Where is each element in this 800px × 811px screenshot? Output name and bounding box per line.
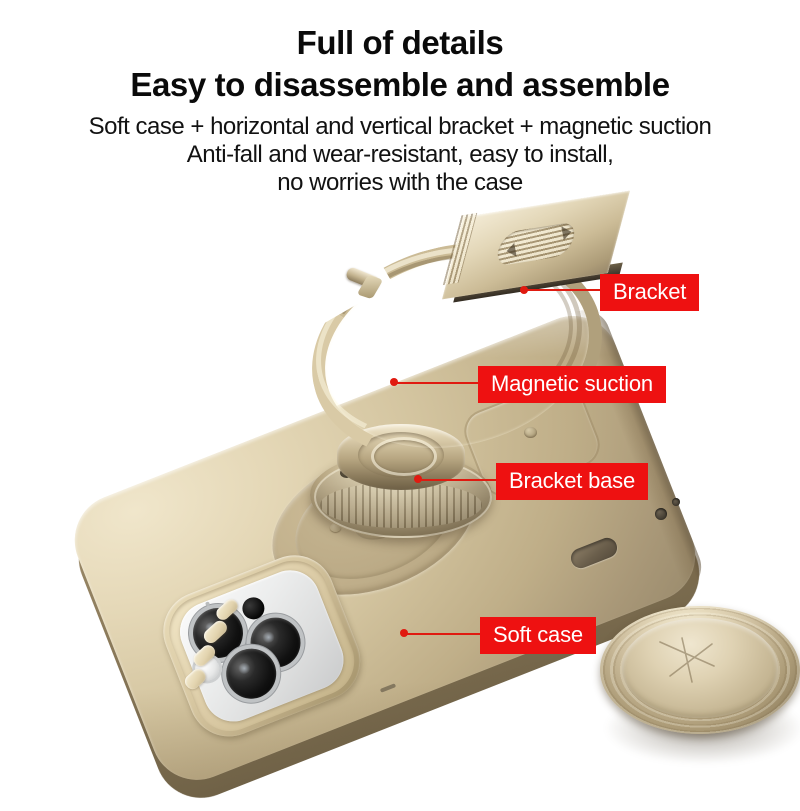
- callout-leader-magnetic-suction: [394, 382, 480, 384]
- callout-label-soft-case: Soft case: [480, 617, 596, 654]
- star-emblem-icon: [652, 632, 726, 690]
- headline-block: Full of details Easy to disassemble and …: [0, 26, 800, 101]
- subtitle-line-3: no worries with the case: [0, 169, 800, 197]
- callout-label-bracket: Bracket: [600, 274, 699, 311]
- callout-leader-soft-case: [404, 633, 482, 635]
- product-infographic: Full of details Easy to disassemble and …: [0, 0, 800, 800]
- subtitle-block: Soft case + horizontal and vertical brac…: [0, 113, 800, 197]
- case-port-hole-large: [655, 508, 667, 520]
- callout-leader-bracket: [524, 289, 602, 291]
- headline-line-1: Full of details: [0, 26, 800, 59]
- callout-leader-bracket-base: [418, 479, 498, 481]
- lens-glint: [261, 630, 277, 645]
- callout-label-bracket-base: Bracket base: [496, 463, 648, 500]
- case-port-hole-small: [672, 498, 680, 506]
- subtitle-line-2: Anti-fall and wear-resistant, easy to in…: [0, 141, 800, 169]
- subtitle-line-1: Soft case + horizontal and vertical brac…: [0, 113, 800, 141]
- headline-line-2: Easy to disassemble and assemble: [0, 68, 800, 101]
- lens-glint: [236, 661, 252, 676]
- callout-label-magnetic-suction: Magnetic suction: [478, 366, 666, 403]
